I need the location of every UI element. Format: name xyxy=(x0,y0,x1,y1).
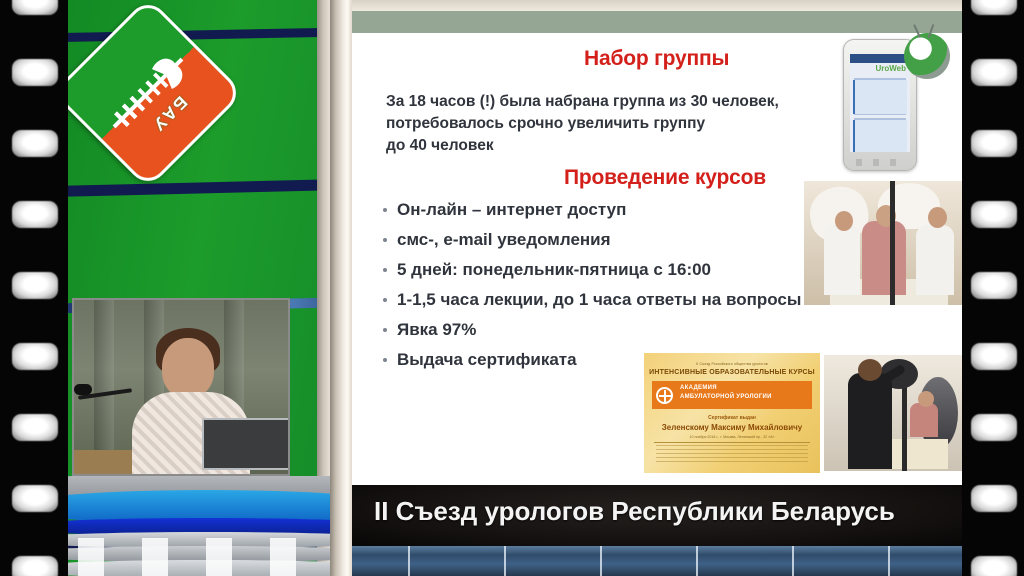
academy-line: АКАДЕМИЯ xyxy=(680,384,772,393)
slide-title-recruitment: Набор группы xyxy=(584,47,729,71)
photo-studio-three-people xyxy=(804,181,962,305)
bottom-strip-tick xyxy=(792,546,794,576)
certificate-image: II Съезд Российского общества урологов И… xyxy=(644,353,820,473)
sprocket-hole xyxy=(971,0,1017,15)
laptop-icon xyxy=(202,418,290,470)
sprocket-hole xyxy=(971,59,1017,86)
photo-table xyxy=(886,439,948,469)
sprocket-hole xyxy=(971,201,1017,228)
academy-line: АМБУЛАТОРНОЙ УРОЛОГИИ xyxy=(680,393,772,402)
sprocket-hole xyxy=(12,0,58,15)
bottom-strip-tick xyxy=(888,546,890,576)
seated-person-body xyxy=(910,403,938,437)
sprocket-hole xyxy=(971,556,1017,576)
sprocket-hole xyxy=(12,485,58,512)
sprocket-hole xyxy=(12,130,58,157)
film-strip-left xyxy=(0,0,68,576)
slide-title-courses: Проведение курсов xyxy=(564,166,766,190)
cameraman-body xyxy=(848,373,892,469)
slide-bottom-strip xyxy=(352,546,963,576)
sprocket-hole xyxy=(971,485,1017,512)
phone-app-brand: UroWeb xyxy=(875,64,906,73)
seated-person-head xyxy=(918,391,934,407)
person-head xyxy=(835,211,853,231)
certificate-header-main: ИНТЕНСИВНЫЕ ОБРАЗОВАТЕЛЬНЫЕ КУРСЫ xyxy=(644,369,820,376)
slide-content-area: Набор группы За 18 часов (!) была набран… xyxy=(356,33,959,485)
photo-cameraman-lighting-setup xyxy=(824,355,962,471)
certificate-issued-place: 10 ноября 2016 г., г. Москва, Ленинский … xyxy=(644,435,820,439)
certificate-divider xyxy=(654,442,810,443)
conference-banner: II Съезд урологов Республики Беларусь xyxy=(352,485,963,546)
sprocket-hole xyxy=(12,59,58,86)
academy-emblem-icon xyxy=(656,387,673,404)
certificate-academy: АКАДЕМИЯ АМБУЛАТОРНОЙ УРОЛОГИИ xyxy=(680,384,772,402)
sprocket-hole xyxy=(12,414,58,441)
phone-post-card xyxy=(853,80,907,114)
presentation-slide: Набор группы За 18 часов (!) была набран… xyxy=(352,0,963,576)
sprocket-hole xyxy=(12,556,58,576)
list-item: Явка 97% xyxy=(380,315,955,345)
certificate-header-small: II Съезд Российского общества урологов xyxy=(644,362,820,366)
sprocket-hole xyxy=(971,130,1017,157)
bottom-strip-tick xyxy=(696,546,698,576)
sprocket-hole xyxy=(971,343,1017,370)
phone-post-card xyxy=(853,120,907,152)
person-figure xyxy=(916,225,954,295)
conference-banner-text: II Съезд урологов Республики Беларусь xyxy=(374,496,895,527)
logo-diamond-shape: БАУ xyxy=(52,0,244,189)
sprocket-hole xyxy=(971,272,1017,299)
light-stand-pole xyxy=(890,181,895,305)
phone-screen: UroWeb xyxy=(850,54,910,152)
slide-header-band xyxy=(352,11,963,33)
caduceus-wing-right-icon xyxy=(162,59,187,89)
certificate-issued-to: Зеленскому Максиму Михайловичу xyxy=(644,423,820,432)
film-strip-right xyxy=(962,0,1024,576)
bottom-strip-tick xyxy=(600,546,602,576)
podium xyxy=(72,450,134,476)
person-figure xyxy=(824,225,860,295)
bottom-strip-tick xyxy=(504,546,506,576)
slide-top-edge xyxy=(352,0,963,11)
certificate-fine-print xyxy=(656,445,808,463)
person-head xyxy=(928,207,947,228)
phone-nav-buttons-icon xyxy=(856,159,906,166)
microphone-icon xyxy=(74,384,92,395)
sprocket-hole xyxy=(971,414,1017,441)
certificate-issued-label: Сертификат выдан xyxy=(644,415,820,421)
bottom-strip-tick xyxy=(408,546,410,576)
screenshot-stage: БАУ Набор группы За 18 часов (!) б xyxy=(0,0,1024,576)
curtain-fold xyxy=(94,300,114,474)
studio-desk xyxy=(68,476,353,576)
sprocket-hole xyxy=(12,272,58,299)
uroweb-green-logo xyxy=(904,33,950,79)
speaker-head xyxy=(162,338,214,398)
sprocket-hole xyxy=(12,201,58,228)
bau-association-logo: БАУ xyxy=(80,25,216,161)
person-figure xyxy=(862,221,906,295)
phone-app-header xyxy=(850,54,910,63)
desk-light-strip xyxy=(78,538,328,576)
sprocket-hole xyxy=(12,343,58,370)
speaker-video-inset[interactable] xyxy=(72,298,290,476)
